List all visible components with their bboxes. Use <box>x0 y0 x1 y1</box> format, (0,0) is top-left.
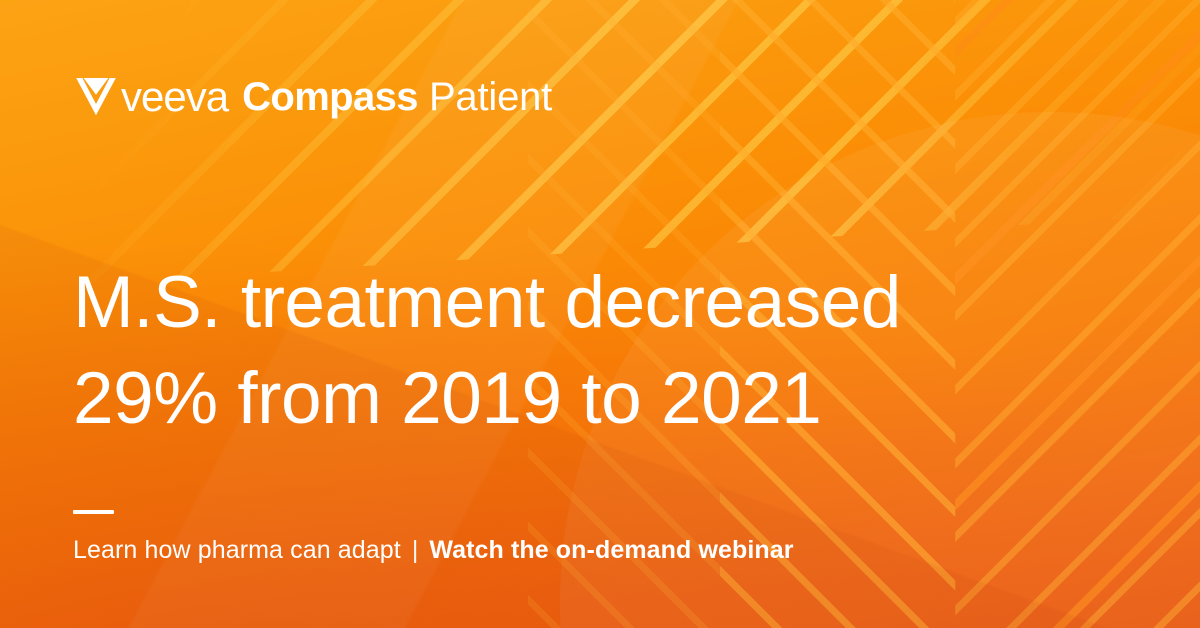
cta-lead-text: Learn how pharma can adapt <box>73 533 401 567</box>
logo-wordmark-veeva: veeva <box>121 76 228 118</box>
cta-line: Learn how pharma can adapt | Watch the o… <box>73 533 794 567</box>
brand-logo-lockup: veeva Compass Patient <box>73 71 552 123</box>
headline-line-1: M.S. treatment decreased <box>73 255 1053 351</box>
banner-content: veeva Compass Patient M.S. treatment dec… <box>0 0 1200 628</box>
veeva-v-triangle-icon <box>73 72 119 123</box>
cta-link-text[interactable]: Watch the on-demand webinar <box>429 533 793 567</box>
promo-banner: veeva Compass Patient M.S. treatment dec… <box>0 0 1200 628</box>
cta-separator: | <box>412 533 419 567</box>
headline: M.S. treatment decreased 29% from 2019 t… <box>73 255 1053 447</box>
divider-rule <box>73 510 114 514</box>
headline-line-2: 29% from 2019 to 2021 <box>73 351 1053 447</box>
logo-wordmark-compass: Compass <box>242 77 418 117</box>
logo-wordmark-patient: Patient <box>429 77 552 117</box>
